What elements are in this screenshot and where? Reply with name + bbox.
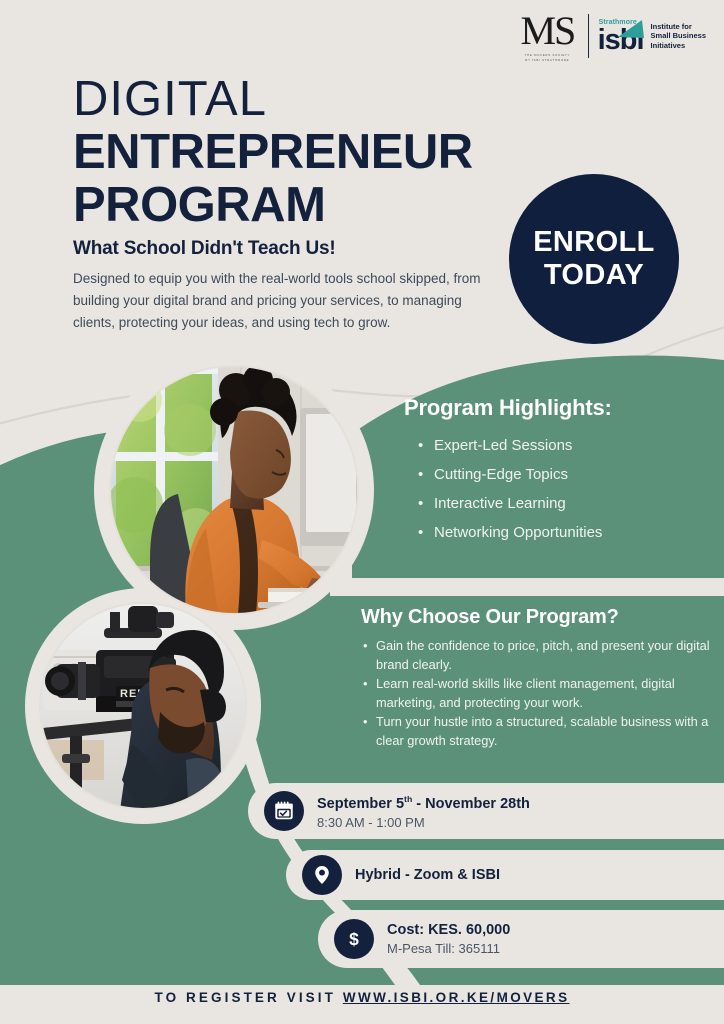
list-item: Interactive Learning	[404, 489, 714, 518]
ms-subtitle-line2: BY ISBI STRATHMORE	[517, 58, 577, 63]
list-item: Learn real-world skills like client mana…	[361, 675, 711, 712]
time-range: 8:30 AM - 1:00 PM	[317, 814, 530, 832]
why-choose-title: Why Choose Our Program?	[361, 606, 711, 629]
headline-line-2: ENTREPRENEUR	[73, 126, 513, 179]
program-highlights-list: Expert-Led Sessions Cutting-Edge Topics …	[404, 431, 714, 547]
register-url[interactable]: WWW.ISBI.OR.KE/MOVERS	[343, 990, 570, 1005]
enroll-line-1: ENROLL	[533, 226, 655, 259]
location-info-pill: Hybrid - Zoom & ISBI	[286, 850, 724, 900]
ms-letters: MS	[516, 9, 579, 53]
list-item: Networking Opportunities	[404, 518, 714, 547]
location-text: Hybrid - Zoom & ISBI	[355, 866, 500, 885]
headline-subtitle: What School Didn't Teach Us!	[73, 238, 513, 260]
enroll-line-2: TODAY	[544, 259, 644, 292]
ms-logo-mark: MS THE MOVERS SOCIETY BY ISBI STRATHMORE	[516, 9, 579, 63]
cost-info-pill: $ Cost: KES. 60,000 M-Pesa Till: 365111	[318, 910, 724, 968]
brand-logo: MS THE MOVERS SOCIETY BY ISBI STRATHMORE…	[516, 8, 706, 64]
isbi-swoosh-icon	[618, 20, 646, 40]
date-range: September 5th - November 28th	[317, 790, 530, 814]
list-item: Expert-Led Sessions	[404, 431, 714, 460]
intro-paragraph: Designed to equip you with the real-worl…	[73, 268, 493, 334]
mpesa-till: M-Pesa Till: 365111	[387, 940, 510, 958]
list-item: Cutting-Edge Topics	[404, 460, 714, 489]
date-info-text: September 5th - November 28th 8:30 AM - …	[317, 790, 530, 832]
headline-line-3: PROGRAM	[73, 179, 513, 232]
location-pin-icon	[302, 855, 342, 895]
isbi-tagline-line2: Small Business	[651, 31, 706, 41]
isbi-tagline-line1: Institute for	[651, 22, 706, 32]
enroll-today-badge[interactable]: ENROLL TODAY	[509, 174, 679, 344]
date-info-pill: September 5th - November 28th 8:30 AM - …	[248, 783, 724, 839]
isbi-tagline-line3: Initiatives	[651, 41, 706, 51]
cost-amount: Cost: KES. 60,000	[387, 921, 510, 940]
poster-canvas: RED	[0, 0, 724, 1024]
headline-line-1: DIGITAL	[73, 72, 513, 126]
why-choose-list: Gain the confidence to price, pitch, and…	[361, 637, 711, 750]
calendar-icon	[264, 791, 304, 831]
cost-info-text: Cost: KES. 60,000 M-Pesa Till: 365111	[387, 921, 510, 958]
program-highlights-section: Program Highlights: Expert-Led Sessions …	[404, 395, 714, 547]
register-prefix: TO REGISTER VISIT	[155, 990, 343, 1005]
isbi-logo-mark: Strathmore isbi Institute for Small Busi…	[598, 19, 706, 54]
program-highlights-title: Program Highlights:	[404, 395, 714, 421]
list-item: Turn your hustle into a structured, scal…	[361, 713, 711, 750]
dollar-icon: $	[334, 919, 374, 959]
list-item: Gain the confidence to price, pitch, and…	[361, 637, 711, 674]
why-choose-section: Why Choose Our Program? Gain the confide…	[361, 606, 711, 751]
isbi-tagline: Institute for Small Business Initiatives	[644, 22, 706, 51]
register-footer: TO REGISTER VISIT WWW.ISBI.OR.KE/MOVERS	[0, 990, 724, 1005]
logo-divider	[588, 14, 589, 58]
page-title: DIGITAL ENTREPRENEUR PROGRAM What School…	[73, 72, 513, 260]
isbi-wordmark: Strathmore isbi	[598, 19, 644, 54]
svg-text:$: $	[349, 929, 359, 949]
